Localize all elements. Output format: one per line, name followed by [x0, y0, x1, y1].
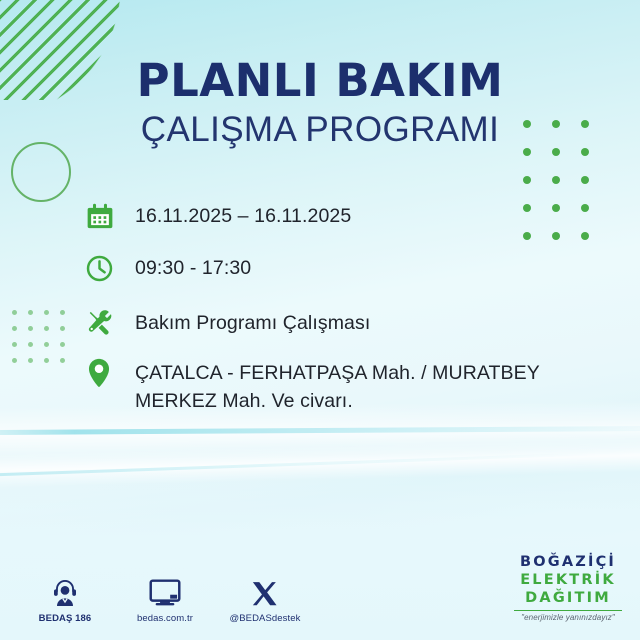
contact-social-x[interactable]: @BEDASdestek	[226, 570, 304, 624]
x-twitter-icon	[226, 570, 304, 608]
poster-headline: PLANLI BAKIM ÇALIŞMA PROGRAMI	[0, 58, 640, 150]
detail-text-time: 09:30 - 17:30	[120, 250, 251, 282]
maintenance-details-list: 16.11.2025 – 16.11.2025 09:30 - 17:30	[86, 198, 586, 431]
location-pin-icon	[86, 355, 120, 391]
brand-line-dagitim: DAĞITIM	[514, 590, 622, 608]
bedas-brand-logo: BOĞAZİÇİ ELEKTRİK DAĞITIM "enerjimizle y…	[514, 554, 622, 622]
background-wave-3	[0, 437, 640, 490]
headset-support-icon	[26, 570, 104, 608]
brand-divider	[514, 610, 622, 612]
detail-row-location: ÇATALCA - FERHATPAŞA Mah. / MURATBEY MER…	[86, 355, 586, 416]
brand-tagline: "enerjimizle yanınızdayız"	[514, 613, 622, 622]
detail-row-time: 09:30 - 17:30	[86, 250, 586, 286]
footer-contact-bar: BEDAŞ 186 bedas.com.tr @BEDASdestek	[26, 570, 304, 624]
contact-label-social-x: @BEDASdestek	[226, 613, 304, 624]
detail-row-work-type: Bakım Programı Çalışması	[86, 305, 586, 341]
contact-call-center[interactable]: BEDAŞ 186	[26, 570, 104, 624]
planned-maintenance-poster: PLANLI BAKIM ÇALIŞMA PROGRAMI	[0, 0, 640, 640]
tools-icon	[86, 305, 120, 341]
circle-outline-decoration	[11, 142, 71, 202]
dot-grid-left-decoration	[12, 310, 76, 374]
detail-text-work-type: Bakım Programı Çalışması	[120, 305, 370, 337]
calendar-icon	[86, 198, 120, 234]
detail-text-date: 16.11.2025 – 16.11.2025	[120, 198, 351, 230]
page-subtitle: ÇALIŞMA PROGRAMI	[0, 109, 640, 150]
page-title: PLANLI BAKIM	[0, 58, 640, 105]
brand-line-bogazici: BOĞAZİÇİ	[514, 554, 622, 572]
contact-label-website: bedas.com.tr	[126, 613, 204, 624]
contact-website[interactable]: bedas.com.tr	[126, 570, 204, 624]
monitor-icon	[126, 570, 204, 608]
clock-icon	[86, 250, 120, 286]
background-wave-4	[0, 449, 640, 479]
brand-line-elektrik: ELEKTRİK	[514, 572, 622, 590]
detail-text-location: ÇATALCA - FERHATPAŞA Mah. / MURATBEY MER…	[120, 355, 586, 416]
detail-row-date: 16.11.2025 – 16.11.2025	[86, 198, 586, 234]
contact-label-call-center: BEDAŞ 186	[26, 613, 104, 624]
